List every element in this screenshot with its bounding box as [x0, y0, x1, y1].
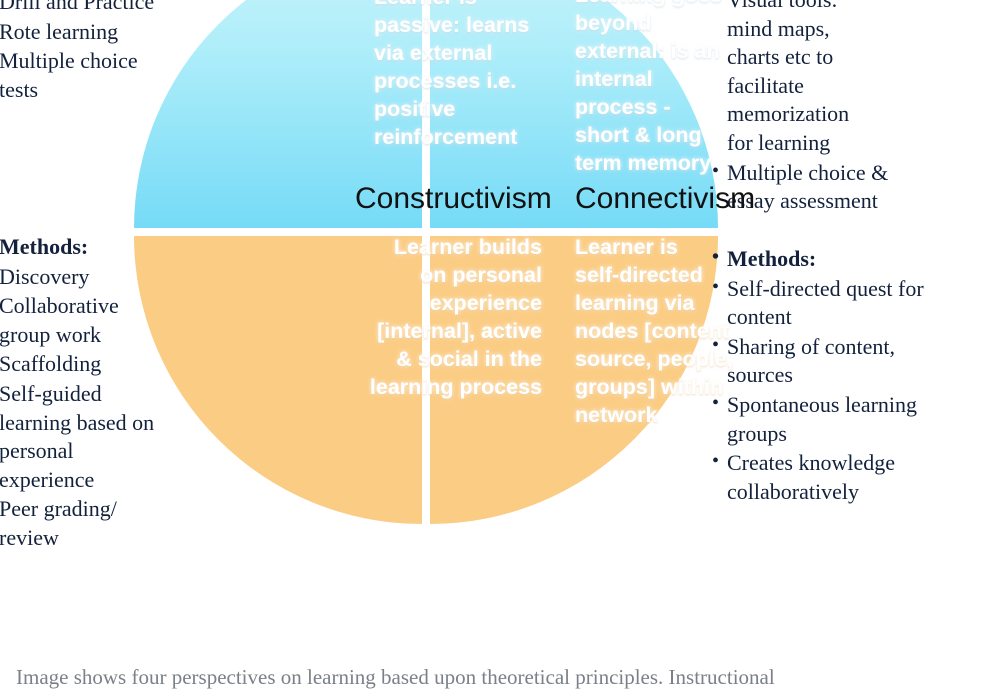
bullet-item: Rote learning: [0, 18, 201, 47]
bullet-column-behaviorism-methods: Drill and PracticeRote learningMultiple …: [0, 0, 201, 105]
quadrant-body-constructivism: Learner builds on personal experience [i…: [342, 234, 542, 402]
bullet-item: Drill and Practice: [0, 0, 201, 17]
quadrant-title-connectivism: Connectivism: [575, 183, 755, 215]
bullet-item: Creates knowledge collaboratively: [712, 449, 997, 506]
figure-caption: Image shows four perspectives on learnin…: [16, 663, 991, 691]
bullet-item: Scaffolding: [0, 350, 196, 379]
bullet-item: Peer grading/ review: [0, 495, 196, 552]
bullet-item: Collaborative group work: [0, 292, 196, 349]
bullet-column-constructivism-methods: Methods:DiscoveryCollaborative group wor…: [0, 233, 196, 554]
bullet-item: Multiple choice tests: [0, 47, 201, 104]
quadrant-body-cognitivism: Learning goes beyond external: is an int…: [575, 0, 770, 178]
quadrant-body-connectivism: Learner is self-directed learning via no…: [575, 234, 770, 430]
bullet-item: Discovery: [0, 263, 196, 292]
quadrant-body-behaviorism: Learner is passive: learns via external …: [374, 0, 554, 152]
bullet-item: Methods:: [0, 233, 196, 262]
diagram-canvas: Behaviorism Learner is passive: learns v…: [0, 0, 999, 699]
quadrant-title-constructivism: Constructivism: [355, 183, 552, 215]
bullet-item: Self-guided learning based on personal e…: [0, 380, 196, 494]
four-quadrant-circle: Behaviorism Learner is passive: learns v…: [134, 0, 718, 524]
